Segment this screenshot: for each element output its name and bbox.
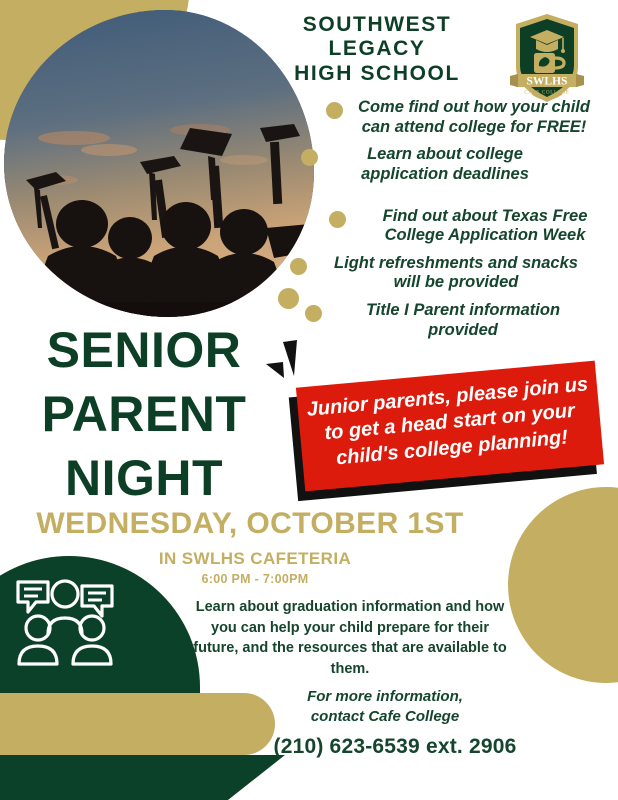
list-item-label: Learn about college application deadline… (338, 145, 552, 184)
event-location: IN SWLHS CAFETERIA (120, 549, 390, 569)
logo-banner-text: SWLHS (527, 76, 568, 88)
flyer-canvas: SOUTHWEST LEGACY HIGH SCHOOL SWLHS CAFE … (0, 0, 618, 800)
list-item-label: Title I Parent information provided (338, 301, 588, 340)
list-item: Title I Parent information provided (338, 301, 588, 340)
contact-phone: (210) 623-6539 ext. 2906 (230, 735, 560, 759)
list-item-label: Come find out how your child can attend … (358, 98, 590, 137)
contact-note-line-2: contact Cafe College (250, 707, 520, 727)
group-conversation-icon (10, 572, 120, 672)
bullet-dot-icon (326, 102, 343, 119)
list-item: Come find out how your child can attend … (358, 98, 590, 137)
page-title-line-1: SENIOR (8, 318, 280, 382)
school-name: SOUTHWEST LEGACY HIGH SCHOOL (252, 13, 502, 86)
page-title-line-2: PARENT (8, 382, 280, 446)
page-title: SENIOR PARENT NIGHT (8, 318, 280, 510)
list-item-label: Light refreshments and snacks will be pr… (322, 254, 590, 293)
benefits-list: Come find out how your child can attend … (280, 98, 618, 348)
description-text: Learn about graduation information and h… (190, 597, 510, 679)
swlhs-cafe-college-logo-icon: SWLHS CAFE COLLEGE (508, 12, 586, 104)
gold-disc-right-decor (508, 487, 618, 683)
bullet-dot-icon (329, 211, 346, 228)
list-item-label: Find out about Texas Free College Applic… (362, 207, 608, 246)
bullet-dot-icon (290, 258, 307, 275)
logo-sub-text: CAFE COLLEGE (524, 91, 569, 96)
page-title-line-3: NIGHT (8, 446, 280, 510)
contact-note: For more information, contact Cafe Colle… (250, 687, 520, 726)
junior-parents-callout: Junior parents, please join us to get a … (296, 361, 604, 492)
list-item: Light refreshments and snacks will be pr… (322, 254, 590, 293)
list-item: Learn about college application deadline… (338, 145, 552, 184)
school-name-line-2: HIGH SCHOOL (252, 62, 502, 86)
school-name-line-1: SOUTHWEST LEGACY (252, 13, 502, 62)
bullet-dot-icon (301, 149, 318, 166)
event-date: WEDNESDAY, OCTOBER 1ST (10, 507, 490, 541)
contact-note-line-1: For more information, (250, 687, 520, 707)
bullet-dot-icon (305, 305, 322, 322)
list-item: Find out about Texas Free College Applic… (362, 207, 608, 246)
green-footer-bar-decor (0, 755, 285, 800)
event-time: 6:00 PM - 7:00PM (120, 572, 390, 586)
